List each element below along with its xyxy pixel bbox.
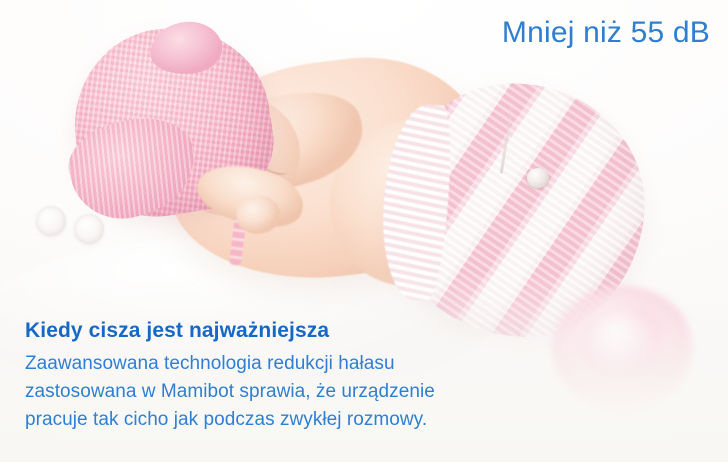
marketing-copy-block: Kiedy cisza jest najważniejsza Zaawansow…: [25, 317, 585, 434]
copy-body-line-2: zastosowana w Mamibot sprawia, że urządz…: [25, 378, 585, 406]
product-promo-banner: Mniej niż 55 dB Kiedy cisza jest najważn…: [0, 0, 728, 462]
noise-level-headline: Mniej niż 55 dB: [502, 16, 710, 51]
copy-title: Kiedy cisza jest najważniejsza: [25, 317, 585, 344]
translucent-pearl-1: [36, 206, 66, 236]
copy-body-line-3: pracuje tak cicho jak podczas zwykłej ro…: [25, 406, 585, 434]
decorative-bead: [527, 168, 549, 188]
translucent-pearl-2: [74, 214, 104, 244]
copy-body-line-1: Zaawansowana technologia redukcji hałasu: [25, 350, 585, 378]
